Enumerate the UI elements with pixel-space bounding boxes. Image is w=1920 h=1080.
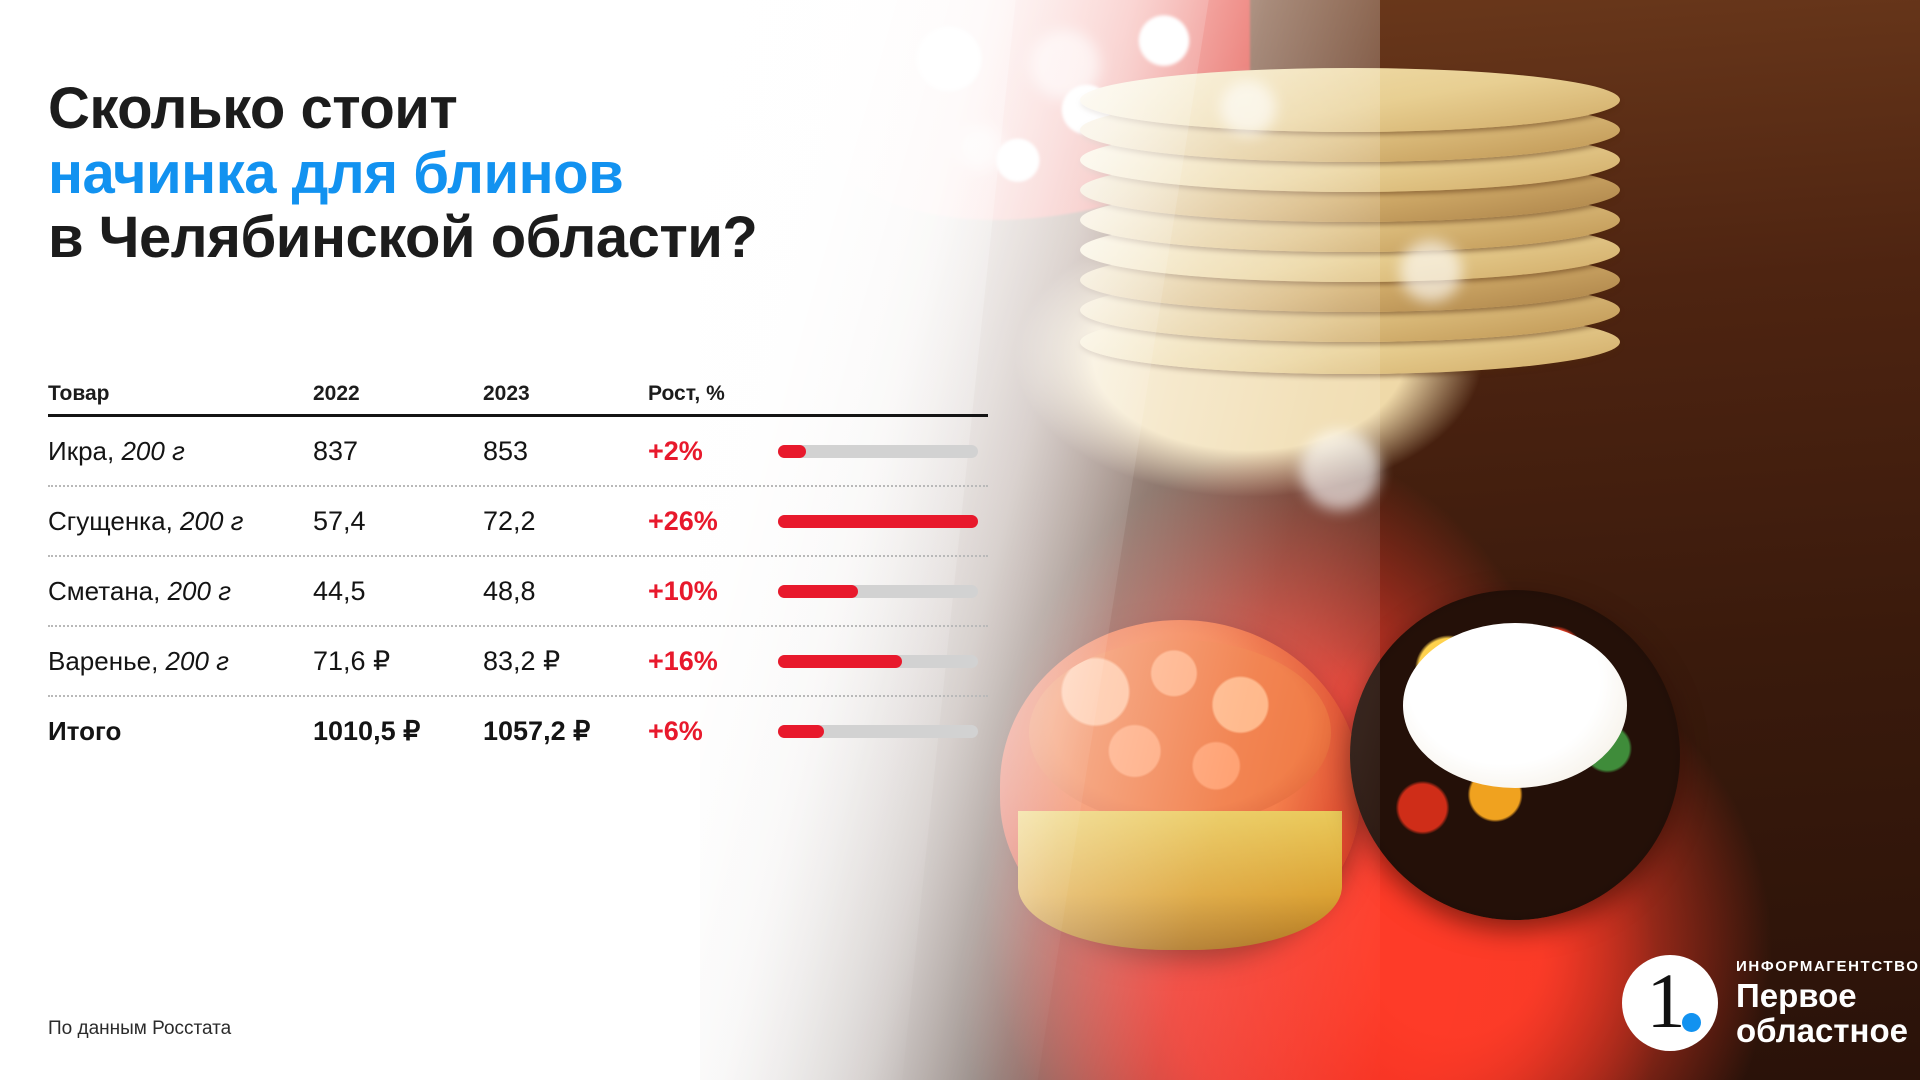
cell-2023: 48,8 [483,576,648,607]
cell-growth: +2% [648,436,778,467]
bar-track [778,585,978,598]
infographic-canvas: Сколько стоит начинка для блинов в Челяб… [0,0,1920,1080]
product-unit: 200 г [166,646,229,676]
table-row: Икра, 200 г 837 853 +2% [48,417,988,487]
logo-numeral: 1 [1647,962,1686,1040]
cell-2023: 853 [483,436,648,467]
cell-bar [778,725,988,738]
bar-track [778,515,978,528]
cell-2022: 44,5 [313,576,483,607]
product-name: Сметана, [48,576,168,606]
cell-2022: 57,4 [313,506,483,537]
table-row: Варенье, 200 г 71,6 ₽ 83,2 ₽ +16% [48,627,988,697]
cell-2022: 71,6 ₽ [313,646,483,677]
logo-name-line-2: областное [1736,1014,1919,1049]
logo-mark-icon: 1 [1622,955,1718,1051]
cell-product: Итого [48,716,313,747]
price-table: Товар 2022 2023 Рост, % Икра, 200 г 837 … [48,362,988,765]
column-header-product: Товар [48,382,313,406]
product-unit: 200 г [121,436,184,466]
logo-name: Первое областное [1736,979,1919,1049]
product-name: Сгущенка, [48,506,180,536]
logo-kicker: ИНФОРМАГЕНТСТВО [1736,958,1919,975]
cell-growth: +16% [648,646,778,677]
cell-2022: 837 [313,436,483,467]
title-line-2: начинка для блинов [48,142,757,207]
bar-track [778,445,978,458]
cell-growth: +10% [648,576,778,607]
bar-fill [778,725,824,738]
cell-bar [778,445,988,458]
product-name: Икра, [48,436,121,466]
bar-fill [778,655,902,668]
cell-bar [778,515,988,528]
column-header-2023: 2023 [483,382,648,406]
page-title: Сколько стоит начинка для блинов в Челяб… [48,77,757,271]
bar-fill [778,515,978,528]
logo-name-line-1: Первое [1736,979,1919,1014]
title-line-3: в Челябинской области? [48,206,757,271]
logo-dot-icon [1682,1013,1701,1032]
bar-track [778,655,978,668]
title-line-1: Сколько стоит [48,77,757,142]
cell-growth: +26% [648,506,778,537]
logo: 1 ИНФОРМАГЕНТСТВО Первое областное [1622,955,1919,1051]
cell-product: Сгущенка, 200 г [48,506,313,537]
cell-product: Варенье, 200 г [48,646,313,677]
column-header-2022: 2022 [313,382,483,406]
bar-fill [778,445,806,458]
cell-2022: 1010,5 ₽ [313,716,483,747]
cell-2023: 72,2 [483,506,648,537]
table-row-total: Итого 1010,5 ₽ 1057,2 ₽ +6% [48,697,988,765]
product-name: Варенье, [48,646,166,676]
cell-product: Икра, 200 г [48,436,313,467]
column-header-growth: Рост, % [648,382,778,406]
cell-2023: 83,2 ₽ [483,646,648,677]
cell-product: Сметана, 200 г [48,576,313,607]
content-layer: Сколько стоит начинка для блинов в Челяб… [0,0,1920,1080]
product-unit: 200 г [180,506,243,536]
cell-bar [778,655,988,668]
bar-track [778,725,978,738]
table-row: Сгущенка, 200 г 57,4 72,2 +26% [48,487,988,557]
table-row: Сметана, 200 г 44,5 48,8 +10% [48,557,988,627]
cell-2023: 1057,2 ₽ [483,716,648,747]
source-note: По данным Росстата [48,1018,231,1040]
logo-text: ИНФОРМАГЕНТСТВО Первое областное [1736,958,1919,1049]
bar-fill [778,585,858,598]
cell-growth: +6% [648,716,778,747]
cell-bar [778,585,988,598]
product-unit: 200 г [168,576,231,606]
table-header-row: Товар 2022 2023 Рост, % [48,362,988,406]
product-name: Итого [48,716,121,746]
